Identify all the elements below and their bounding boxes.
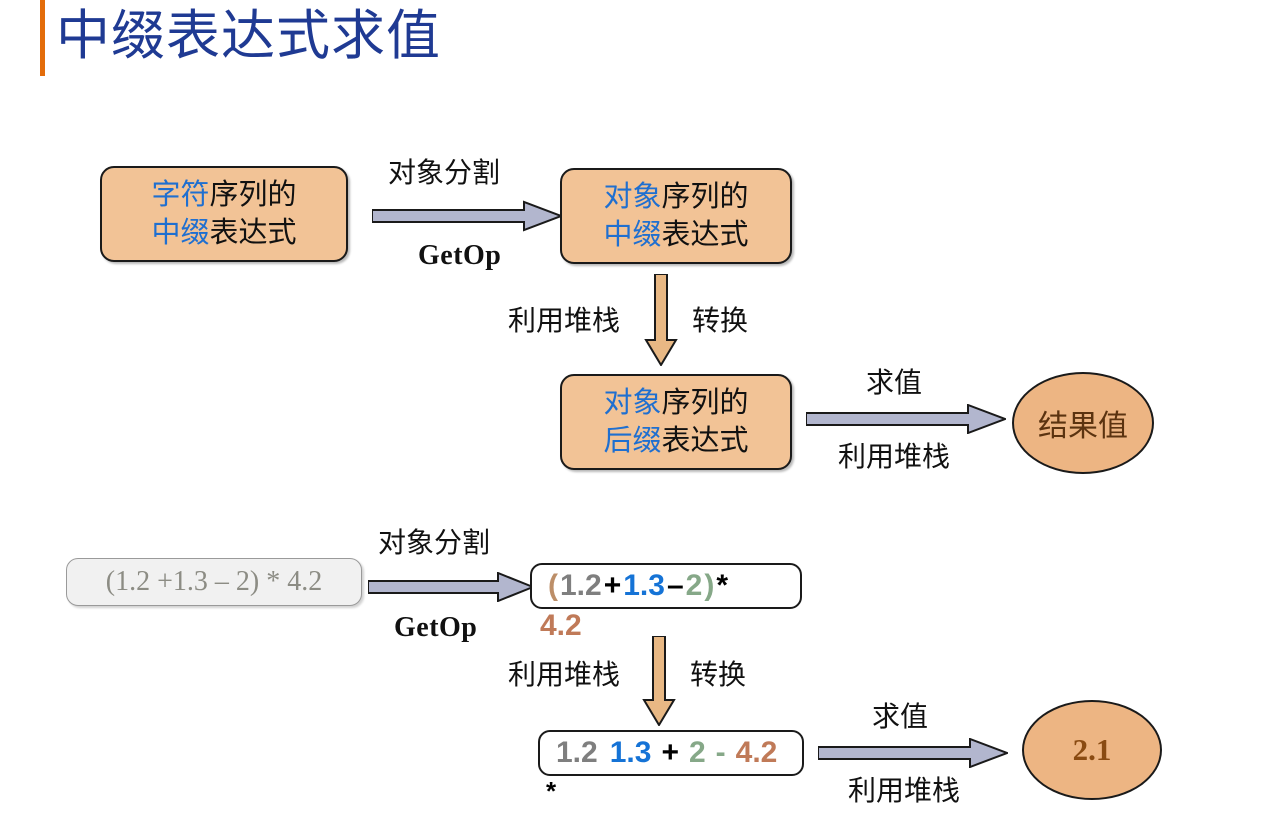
box-char-infix-line2-blue: 中缀 — [151, 217, 209, 249]
arrow-object-split-1 — [372, 200, 562, 232]
box-object-postfix-line2-blue: 后缀 — [603, 425, 661, 457]
box-object-postfix-line1: 对象序列的 — [603, 384, 748, 422]
box-object-postfix-line2: 后缀表达式 — [603, 422, 748, 460]
postfix-num-4-2: 4.2 — [736, 736, 778, 770]
box-char-infix-line1-black: 序列的 — [210, 179, 297, 211]
title-accent-bar — [40, 0, 45, 76]
box-char-infix-expression: 字符序列的 中缀表达式 — [100, 166, 348, 262]
box-char-infix-line1: 字符序列的 — [151, 176, 296, 214]
box-object-infix-line1-blue: 对象 — [603, 181, 661, 213]
label-use-stack-1: 利用堆栈 — [508, 306, 620, 338]
box-char-infix-line2-black: 表达式 — [210, 217, 297, 249]
token-num-2: 2 — [686, 569, 703, 603]
box-char-infix-line2: 中缀表达式 — [151, 214, 296, 252]
postfix-plus: + — [661, 736, 679, 770]
box-object-postfix-line1-black: 序列的 — [662, 387, 749, 419]
token-num-1-3: 1.3 — [623, 569, 665, 603]
postfix-num-1-3: 1.3 — [610, 736, 652, 770]
box-object-infix-line2-blue: 中缀 — [603, 219, 661, 251]
arrow-evaluate-2 — [818, 738, 1008, 768]
label-use-stack-2: 利用堆栈 — [838, 442, 950, 474]
box-example-postfix-sequence: 1.2 1.3 + 2 - 4.2 — [538, 730, 804, 776]
slide-canvas: 中缀表达式求值 字符序列的 中缀表达式 对象分割 GetOp 对象序列的 中缀表… — [0, 0, 1263, 834]
label-getop-1: GetOp — [418, 240, 501, 272]
postfix-overflow-multiply: * — [546, 776, 556, 807]
box-object-infix-line2-black: 表达式 — [662, 219, 749, 251]
box-object-infix-line2: 中缀表达式 — [603, 216, 748, 254]
label-evaluate-2: 求值 — [872, 702, 928, 734]
arrow-convert-1 — [644, 274, 678, 366]
token-overflow-num-4-2: 4.2 — [540, 609, 582, 643]
arrow-object-split-2 — [368, 572, 534, 602]
label-convert-1: 转换 — [692, 306, 748, 338]
postfix-minus: - — [716, 736, 726, 770]
ellipse-result-value: 结果值 — [1012, 372, 1154, 474]
label-object-split-2: 对象分割 — [378, 528, 490, 560]
label-use-stack-3: 利用堆栈 — [508, 660, 620, 692]
label-use-stack-4: 利用堆栈 — [848, 776, 960, 808]
box-object-infix-line1-black: 序列的 — [662, 181, 749, 213]
ellipse-result-number: 2.1 — [1022, 700, 1162, 800]
label-object-split-1: 对象分割 — [388, 158, 500, 190]
token-num-1-2: 1.2 — [560, 569, 602, 603]
token-minus: – — [667, 569, 684, 603]
token-rparen: ) — [704, 569, 714, 603]
box-object-infix-line1: 对象序列的 — [603, 178, 748, 216]
label-evaluate-1: 求值 — [866, 368, 922, 400]
box-example-source-expression: (1.2 +1.3 – 2) * 4.2 — [66, 558, 362, 606]
label-getop-2: GetOp — [394, 612, 477, 644]
box-example-token-sequence: ( 1.2 + 1.3 – 2 ) * — [530, 563, 802, 609]
token-lparen: ( — [548, 569, 558, 603]
token-plus: + — [604, 569, 622, 603]
postfix-num-2: 2 — [689, 736, 706, 770]
box-object-postfix-line1-blue: 对象 — [603, 387, 661, 419]
box-char-infix-line1-blue: 字符 — [151, 179, 209, 211]
label-convert-2: 转换 — [690, 660, 746, 692]
arrow-evaluate-1 — [806, 404, 1006, 434]
postfix-num-1-2: 1.2 — [556, 736, 598, 770]
arrow-convert-2 — [642, 636, 676, 726]
box-object-infix-expression: 对象序列的 中缀表达式 — [560, 168, 792, 264]
token-multiply: * — [716, 569, 728, 603]
box-object-postfix-line2-black: 表达式 — [662, 425, 749, 457]
page-title: 中缀表达式求值 — [56, 2, 441, 70]
box-object-postfix-expression: 对象序列的 后缀表达式 — [560, 374, 792, 470]
